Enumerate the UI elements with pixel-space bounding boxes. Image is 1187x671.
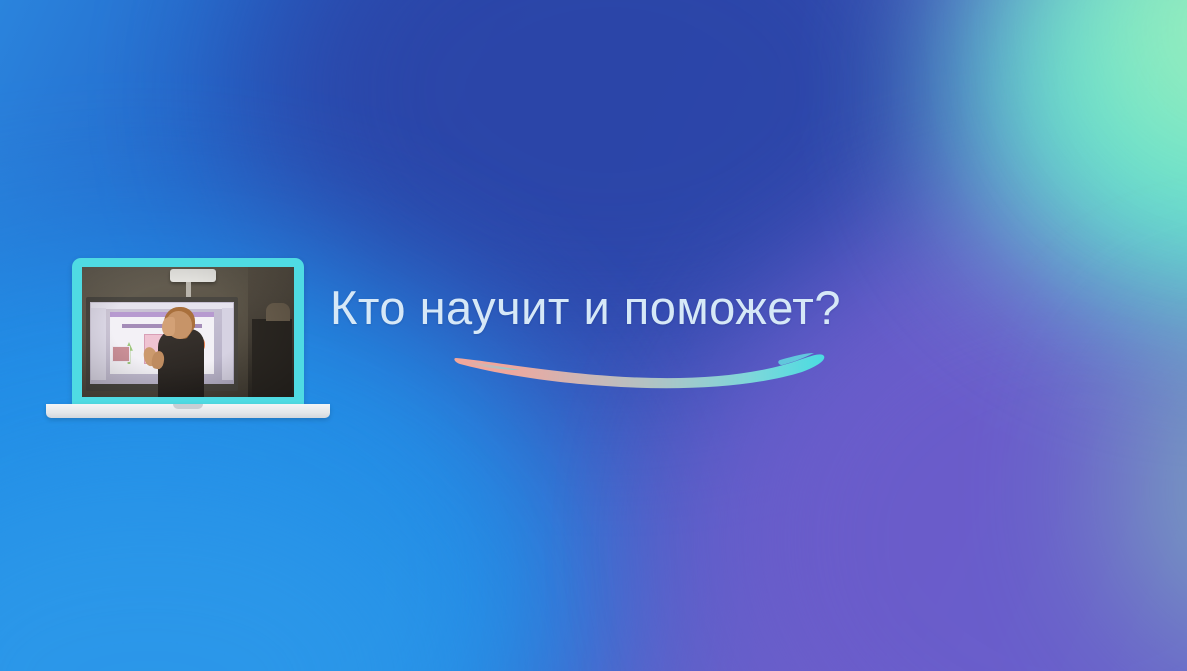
classroom-photo [82, 267, 294, 397]
photo-vignette [82, 267, 294, 397]
laptop-mockup [46, 258, 330, 424]
laptop-lid [72, 258, 304, 406]
laptop-base-notch [173, 404, 203, 409]
laptop-screen [82, 267, 294, 397]
slide-canvas: Кто научит и поможет? [0, 0, 1187, 671]
page-title: Кто научит и поможет? [330, 283, 890, 332]
